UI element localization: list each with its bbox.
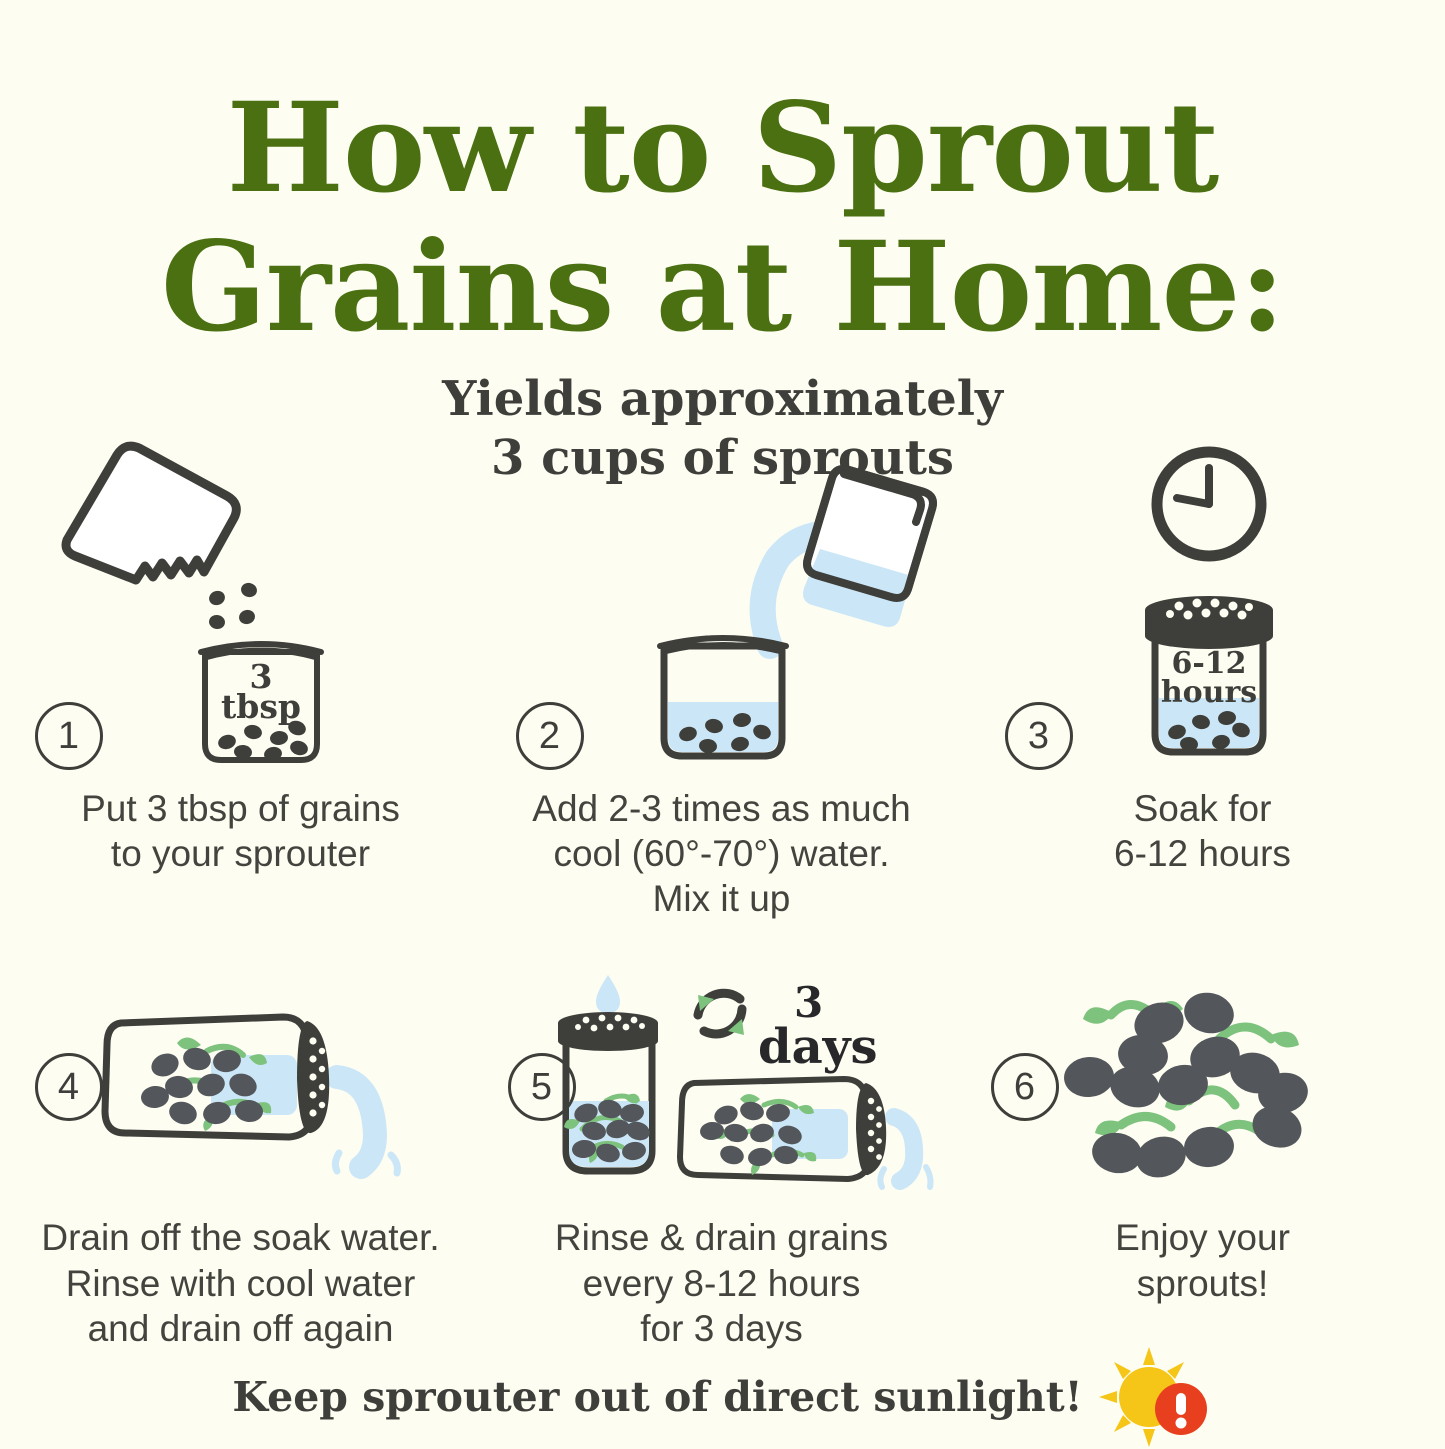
sun-warning-group xyxy=(1101,1345,1213,1449)
infographic-page: How to Sprout Grains at Home: Yields app… xyxy=(0,0,1445,1445)
recycle-arrows-icon xyxy=(698,994,744,1036)
tilted-jar-draining-icon xyxy=(680,1079,886,1179)
water-stream-icon xyxy=(335,1077,397,1173)
step-1-caption: Put 3 tbsp of grains to your sprouter xyxy=(21,786,461,876)
step-3: 6-12 hours 3 Soak for 6-12 hours xyxy=(962,430,1443,921)
mesh-lid-jar-icon: 6-12 hours xyxy=(1145,596,1273,752)
footer-text: Keep sprouter out of direct sunlight! xyxy=(232,1377,1082,1418)
step-number-1: 1 xyxy=(35,702,103,770)
grain-bag-icon xyxy=(66,446,236,580)
step-4: 4 Drain off the soak water. Rinse with c… xyxy=(0,969,481,1350)
falling-grains-icon xyxy=(207,581,258,630)
step-number-2: 2 xyxy=(516,702,584,770)
step-3-caption: Soak for 6-12 hours xyxy=(983,786,1423,876)
step-number-3: 3 xyxy=(1005,702,1073,770)
step-2-caption: Add 2-3 times as much cool (60°-70°) wat… xyxy=(502,786,942,921)
step-number-6: 6 xyxy=(991,1053,1059,1121)
step-6-illustration: 6 xyxy=(983,969,1423,1199)
step-4-caption: Drain off the soak water. Rinse with coo… xyxy=(21,1215,461,1350)
repeat-label-line-2: days xyxy=(758,1019,878,1075)
step-5: 3 days xyxy=(481,969,962,1350)
step-3-illustration: 6-12 hours 3 xyxy=(983,430,1423,770)
measuring-cup-icon xyxy=(803,469,933,627)
step-4-illustration: 4 xyxy=(21,969,461,1199)
tilted-jar-draining-icon xyxy=(105,1017,329,1137)
step-5-caption: Rinse & drain grains every 8-12 hours fo… xyxy=(502,1215,942,1350)
jar-label-line-2: hours xyxy=(1160,675,1256,710)
footer-note: Keep sprouter out of direct sunlight! xyxy=(0,1345,1445,1449)
step-5-illustration: 3 days xyxy=(502,969,942,1199)
clock-icon xyxy=(1157,452,1261,556)
sprouts-icon xyxy=(139,1038,270,1132)
steps-row-top: 3 tbsp 1 Put 3 tbsp of grains to your sp… xyxy=(0,430,1445,921)
warning-exclamation-icon xyxy=(1155,1383,1207,1435)
step-6: 6 Enjoy your sprouts! xyxy=(962,969,1443,1350)
step-6-caption: Enjoy your sprouts! xyxy=(983,1215,1423,1305)
step-1-illustration: 3 tbsp 1 xyxy=(21,430,461,770)
steps-row-bottom: 4 Drain off the soak water. Rinse with c… xyxy=(0,969,1445,1350)
jar-label-line-2: tbsp xyxy=(221,687,301,726)
step-2-illustration: 2 xyxy=(502,430,942,770)
step-number-5: 5 xyxy=(508,1053,576,1121)
step-number-4: 4 xyxy=(35,1053,103,1121)
jar-icon: 3 tbsp xyxy=(201,644,321,763)
steps-grid: 3 tbsp 1 Put 3 tbsp of grains to your sp… xyxy=(0,430,1445,1351)
water-stream-icon xyxy=(880,1117,930,1187)
water-drop-icon xyxy=(596,975,620,1013)
sprouted-grains-cluster-icon xyxy=(1062,989,1311,1184)
step-2: 2 Add 2-3 times as much cool (60°-70°) w… xyxy=(481,430,962,921)
step-1: 3 tbsp 1 Put 3 tbsp of grains to your sp… xyxy=(0,430,481,921)
page-title: How to Sprout Grains at Home: xyxy=(0,80,1445,358)
